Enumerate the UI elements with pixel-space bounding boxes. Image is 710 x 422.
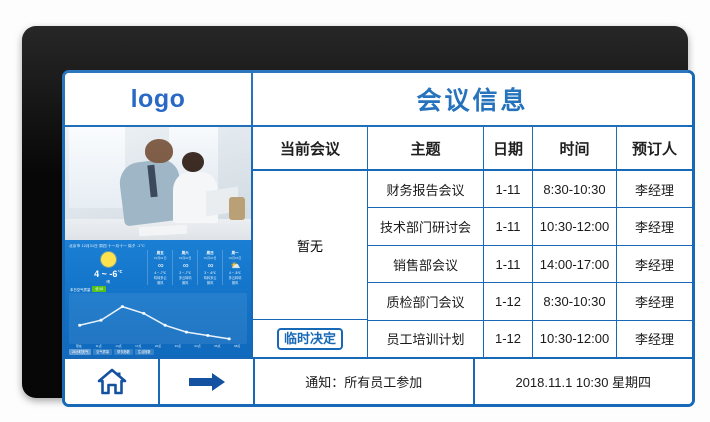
chart-x-tick: 现在	[69, 344, 89, 348]
sidebar: 北京市 12月31日 周四 十一月十一 除夕 -1°C 4 ~ -6℃	[65, 127, 253, 357]
home-button[interactable]	[65, 359, 160, 404]
trend-line-svg	[69, 293, 247, 344]
meeting-table: 当前会议 主题 日期 时间 预订人 暂无 临时决定	[253, 127, 692, 357]
title-cell: 会议信息	[253, 73, 692, 125]
weather-headline: 北京市 12月31日 周四 十一月十一 除夕 -1°C	[69, 243, 247, 249]
forecast-day-date: 01月02日	[173, 256, 197, 260]
main-band: 北京市 12月31日 周四 十一月十一 除夕 -1°C 4 ~ -6℃	[65, 127, 692, 359]
weather-tab[interactable]: 空气质量	[93, 349, 112, 355]
cell-topic: 财务报告会议	[368, 171, 484, 207]
cell-topic: 技术部门研讨会	[368, 208, 484, 244]
weather-today: 4 ~ -6℃ 晴	[69, 250, 147, 285]
chart-x-tick: 08点	[227, 344, 247, 348]
weather-main: 4 ~ -6℃ 晴 周五 01月01日 ∞ 4 ~ -7℃	[69, 250, 247, 285]
next-page-button[interactable]	[160, 359, 255, 404]
air-quality-row: 本日空气质量 优 46	[70, 286, 247, 292]
forecast-day[interactable]: 周日 01月03日 ∞ 3 ~ -6℃ 晴转多云 微风	[197, 250, 222, 285]
forecast-day[interactable]: 周六 01月02日 ∞ 3 ~ -7℃ 多云转晴 微风	[172, 250, 197, 285]
cell-time: 10:30-12:00	[533, 321, 617, 357]
temperature-trend-chart	[69, 293, 247, 344]
cell-date: 1-11	[484, 171, 533, 207]
forecast-wind: 微风	[173, 280, 197, 285]
cell-topic: 销售部会议	[368, 246, 484, 282]
arrow-right-icon	[187, 371, 227, 393]
page-title: 会议信息	[416, 81, 528, 117]
temp-decision-button[interactable]: 临时决定	[277, 328, 343, 350]
table-body: 暂无 临时决定 财务报告会议 1-11 8:30-10:30 李经理	[253, 171, 692, 357]
weather-temp-value: 4 ~ -6	[94, 269, 117, 279]
chart-x-tick: 17点	[128, 344, 148, 348]
col-header-owner: 预订人	[617, 127, 692, 169]
home-icon	[97, 368, 127, 395]
cell-time: 14:00-17:00	[533, 246, 617, 282]
table-row[interactable]: 财务报告会议 1-11 8:30-10:30 李经理	[368, 171, 692, 208]
forecast-wind: 微风	[223, 280, 247, 285]
office-photo	[65, 127, 251, 240]
col-header-date: 日期	[484, 127, 533, 169]
cell-time: 8:30-10:30	[533, 283, 617, 319]
cell-time: 10:30-12:00	[533, 208, 617, 244]
col-header-current: 当前会议	[253, 127, 368, 169]
forecast-weather-icon: ∞	[148, 261, 172, 270]
table-header-row: 当前会议 主题 日期 时间 预订人	[253, 127, 692, 171]
weather-tab[interactable]: 24小时天气	[69, 349, 91, 355]
weather-widget[interactable]: 北京市 12月31日 周四 十一月十一 除夕 -1°C 4 ~ -6℃	[65, 240, 251, 357]
col-header-topic: 主题	[368, 127, 484, 169]
cell-date: 1-12	[484, 321, 533, 357]
cell-time: 8:30-10:30	[533, 171, 617, 207]
forecast-day[interactable]: 周五 01月01日 ∞ 4 ~ -7℃ 晴转多云 微风	[147, 250, 172, 285]
cell-date: 1-11	[484, 208, 533, 244]
forecast-day-date: 01月01日	[148, 256, 172, 260]
sun-icon	[101, 252, 116, 267]
table-row[interactable]: 质检部门会议 1-12 8:30-10:30 李经理	[368, 283, 692, 320]
cell-owner: 李经理	[617, 208, 692, 244]
weather-tab[interactable]: 穿衣指数	[114, 349, 133, 355]
forecast-wind: 微风	[198, 280, 222, 285]
table-row[interactable]: 技术部门研讨会 1-11 10:30-12:00 李经理	[368, 208, 692, 245]
weather-today-condition: 晴	[106, 280, 110, 285]
forecast-weather-icon: ∞	[198, 261, 222, 270]
datetime-text: 2018.11.1 10:30 星期四	[475, 359, 693, 404]
page-root: logo 会议信息	[0, 0, 710, 422]
chart-x-tick: 05点	[207, 344, 227, 348]
col-header-time: 时间	[533, 127, 617, 169]
cell-owner: 李经理	[617, 321, 692, 357]
cell-owner: 李经理	[617, 246, 692, 282]
weather-today-temp: 4 ~ -6℃	[94, 269, 122, 279]
air-quality-label: 本日空气质量	[70, 287, 90, 292]
weather-temp-unit: ℃	[117, 269, 122, 274]
forecast-wind: 微风	[148, 280, 172, 285]
display-bezel: logo 会议信息	[22, 26, 688, 398]
cell-owner: 李经理	[617, 283, 692, 319]
footer-band: 通知：所有员工参加 2018.11.1 10:30 星期四	[65, 359, 692, 404]
chart-x-tick: 20点	[148, 344, 168, 348]
chart-x-tick: 11点	[89, 344, 109, 348]
logo-text: logo	[131, 85, 186, 114]
notice-text: 通知：所有员工参加	[255, 359, 475, 404]
logo-cell[interactable]: logo	[65, 73, 253, 125]
chart-x-labels: 现在 11点 14点 17点 20点 23点 02点 05点 08点	[69, 344, 247, 348]
weather-tab[interactable]: 生活指数	[135, 349, 154, 355]
weather-tabs: 24小时天气 空气质量 穿衣指数 生活指数	[69, 349, 247, 355]
screen-content: logo 会议信息	[62, 70, 695, 407]
cell-owner: 李经理	[617, 171, 692, 207]
chart-x-tick: 02点	[188, 344, 208, 348]
air-quality-badge: 优 46	[92, 286, 106, 292]
forecast-weather-icon: ⛅	[223, 261, 247, 270]
chart-x-tick: 14点	[109, 344, 129, 348]
table-row[interactable]: 销售部会议 1-11 14:00-17:00 李经理	[368, 246, 692, 283]
weather-forecast-list: 周五 01月01日 ∞ 4 ~ -7℃ 晴转多云 微风 周六 01月02日	[147, 250, 247, 285]
cell-date: 1-12	[484, 283, 533, 319]
cell-date: 1-11	[484, 246, 533, 282]
current-meeting-column: 暂无 临时决定	[253, 171, 368, 357]
current-meeting-value: 暂无	[253, 171, 367, 320]
cell-topic: 质检部门会议	[368, 283, 484, 319]
header-band: logo 会议信息	[65, 73, 692, 127]
chart-x-tick: 23点	[168, 344, 188, 348]
temp-decision-cell: 临时决定	[253, 320, 367, 357]
forecast-day-date: 01月03日	[198, 256, 222, 260]
table-row[interactable]: 员工培训计划 1-12 10:30-12:00 李经理	[368, 321, 692, 357]
forecast-day-date: 01月04日	[223, 256, 247, 260]
meeting-rows: 财务报告会议 1-11 8:30-10:30 李经理 技术部门研讨会 1-11 …	[368, 171, 692, 357]
forecast-weather-icon: ∞	[173, 261, 197, 270]
forecast-day[interactable]: 周一 01月04日 ⛅ 4 ~ -5℃ 多云转晴 微风	[222, 250, 247, 285]
cell-topic: 员工培训计划	[368, 321, 484, 357]
